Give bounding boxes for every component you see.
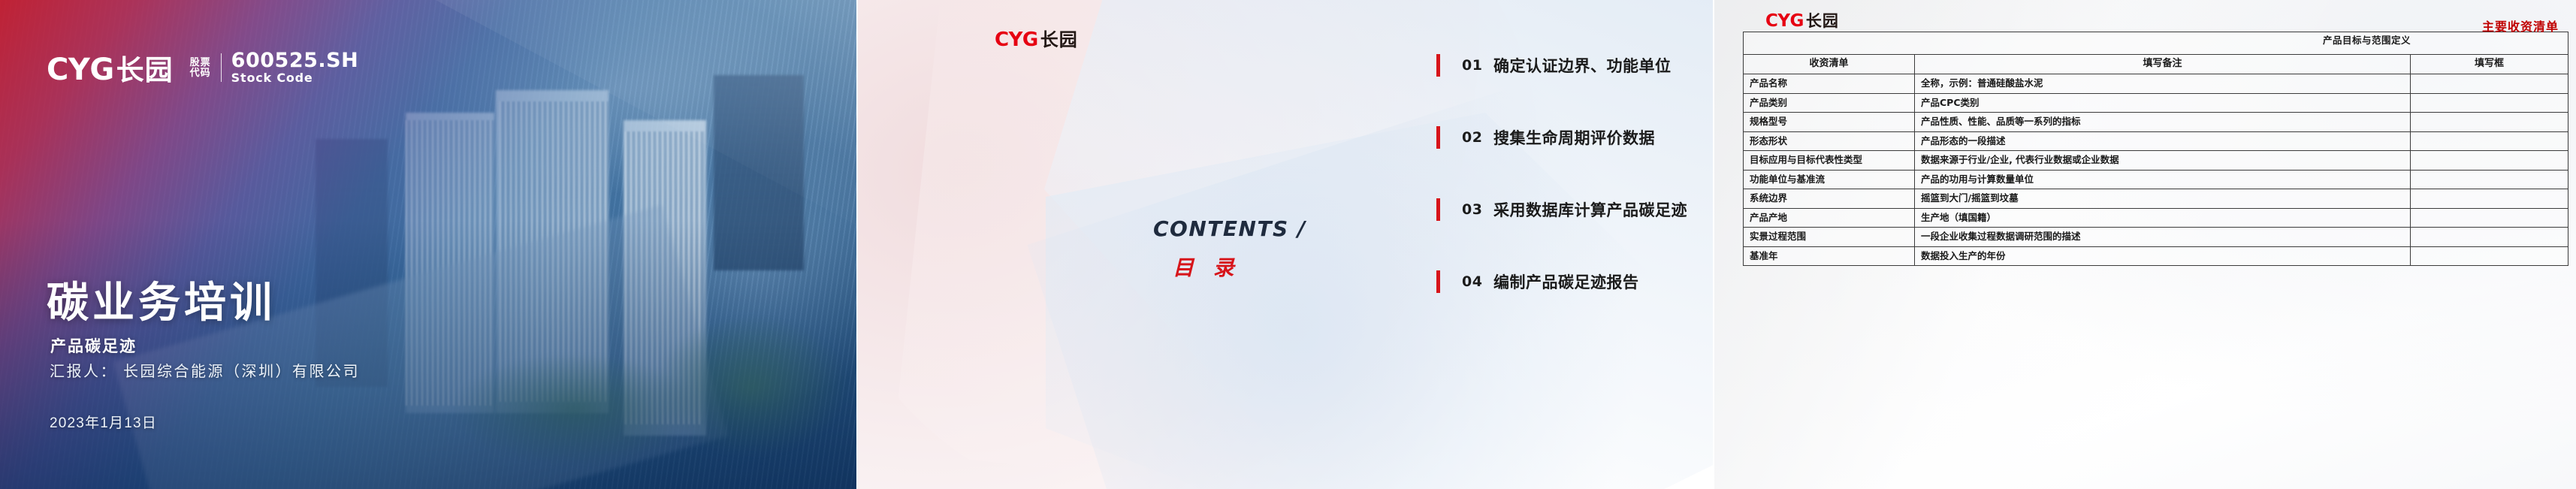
slide3-page-title: 主要收资清单 [2482,17,2559,35]
toc-item-03[interactable]: 03 采用数据库计算产品碳足迹 [1436,191,1687,228]
row-item-input-box[interactable] [2411,170,2568,189]
table-row: 基准年 数据投入生产的年份 [1744,246,2568,266]
row-item-note: 数据来源于行业/企业, 代表行业数据或企业数据 [1915,151,2411,171]
toc-item-marker-bar [1436,198,1440,221]
data-collection-table: 产品目标与范围定义 收资清单 填写备注 填写框 产品名称 全称，示例：普通硅酸盐… [1743,32,2568,266]
toc-item-number: 01 [1462,57,1493,74]
row-item-note: 数据投入生产的年份 [1915,246,2411,266]
toc-item-number: 03 [1462,201,1493,218]
table-caption-text: 产品目标与范围定义 [2172,35,2562,46]
row-item-note: 一段企业收集过程数据调研范围的描述 [1915,228,2411,247]
cover-logo-row: CYG 长园 股票 代码 600525.SH Stock Code [47,47,358,88]
logo-latin-text: CYG [47,53,114,87]
table-row: 产品类别 产品CPC类别 [1744,93,2568,113]
stock-label-line1: 股票 [190,57,211,68]
row-item-input-box[interactable] [2411,246,2568,266]
row-item-input-box[interactable] [2411,74,2568,94]
row-item-input-box[interactable] [2411,208,2568,228]
row-item-note: 产品性质、性能、品质等一系列的指标 [1915,113,2411,132]
row-item-name: 功能单位与基准流 [1744,170,1915,189]
table-row: 功能单位与基准流 产品的功用与计算数量单位 [1744,170,2568,189]
toc-item-label: 搜集生命周期评价数据 [1493,126,1655,149]
table-row: 规格型号 产品性质、性能、品质等一系列的指标 [1744,113,2568,132]
row-item-name: 产品产地 [1744,208,1915,228]
row-item-name: 产品名称 [1744,74,1915,94]
logo-latin-text: CYG [1765,11,1804,31]
stock-label-line2: 代码 [190,68,211,78]
data-collection-table-wrapper: 产品目标与范围定义 收资清单 填写备注 填写框 产品名称 全称，示例：普通硅酸盐… [1743,32,2567,266]
toc-heading-english: CONTENTS / [1153,216,1306,241]
toc-item-marker-bar [1436,54,1440,77]
row-item-name: 基准年 [1744,246,1915,266]
stock-code-value: 600525.SH [231,50,359,71]
row-item-input-box[interactable] [2411,131,2568,151]
table-body: 产品名称 全称，示例：普通硅酸盐水泥 产品类别 产品CPC类别 规格型号 产品性… [1744,74,2568,266]
toc-heading-chinese: 目 录 [1173,252,1306,282]
toc-item-01[interactable]: 01 确定认证边界、功能单位 [1436,47,1687,84]
logo-han-text: 长园 [116,47,174,88]
cover-date: 2023年1月13日 [50,412,157,432]
logo-han-text: 长园 [1806,9,1839,32]
toc-logo-row: CYG 长园 [995,25,1078,51]
slide3-logo-row: CYG 长园 [1765,9,1839,32]
slide-data-collection-list: CYG 长园 主要收资清单 产品目标与范围定义 收资清单 填写备注 [1713,0,2576,489]
row-item-note: 产品CPC类别 [1915,93,2411,113]
toc-item-marker-bar [1436,126,1440,149]
row-item-input-box[interactable] [2411,113,2568,132]
table-row: 产品产地 生产地（填国籍） [1744,208,2568,228]
logo-latin-text: CYG [995,29,1038,51]
toc-item-label: 编制产品碳足迹报告 [1493,270,1639,293]
row-item-name: 规格型号 [1744,113,1915,132]
row-item-note: 摇篮到大门/摇篮到坟墓 [1915,189,2411,209]
table-header-collection-list: 收资清单 [1744,55,1915,74]
table-caption-cell: 产品目标与范围定义 [1744,32,2568,55]
cover-presenter-line: 汇报人： 长园综合能源（深圳）有限公司 [50,359,360,381]
table-row: 系统边界 摇篮到大门/摇篮到坟墓 [1744,189,2568,209]
toc-item-number: 04 [1462,273,1493,290]
stock-code-sublabel: Stock Code [231,71,359,85]
row-item-name: 系统边界 [1744,189,1915,209]
table-header-fill-note: 填写备注 [1915,55,2411,74]
row-item-name: 目标应用与目标代表性类型 [1744,151,1915,171]
row-item-note: 产品形态的一段描述 [1915,131,2411,151]
slide-table-of-contents: CYG 长园 CONTENTS / 目 录 01 确定认证边界、功能单位 02 … [856,0,1713,489]
toc-item-label: 确定认证边界、功能单位 [1493,54,1672,77]
cyg-logo: CYG 长园 [47,47,174,88]
table-caption-row: 产品目标与范围定义 [1744,32,2568,55]
toc-item-04[interactable]: 04 编制产品碳足迹报告 [1436,263,1687,300]
toc-item-marker-bar [1436,270,1440,293]
row-item-input-box[interactable] [2411,93,2568,113]
toc-item-number: 02 [1462,129,1493,146]
toc-item-02[interactable]: 02 搜集生命周期评价数据 [1436,119,1687,156]
row-item-name: 形态形状 [1744,131,1915,151]
stock-divider [221,53,222,82]
slide-deck-strip: CYG 长园 股票 代码 600525.SH Stock Code 碳业务培训 [0,0,2576,489]
row-item-input-box[interactable] [2411,151,2568,171]
table-header-row: 收资清单 填写备注 填写框 [1744,55,2568,74]
slide-title-cover: CYG 长园 股票 代码 600525.SH Stock Code 碳业务培训 [0,0,856,489]
stock-code-group: 股票 代码 600525.SH Stock Code [190,50,359,85]
row-item-note: 生产地（填国籍） [1915,208,2411,228]
table-row: 形态形状 产品形态的一段描述 [1744,131,2568,151]
row-item-name: 产品类别 [1744,93,1915,113]
row-item-input-box[interactable] [2411,189,2568,209]
row-item-note: 产品的功用与计算数量单位 [1915,170,2411,189]
table-row: 产品名称 全称，示例：普通硅酸盐水泥 [1744,74,2568,94]
cover-subtitle: 产品碳足迹 [50,334,137,357]
table-row: 目标应用与目标代表性类型 数据来源于行业/企业, 代表行业数据或企业数据 [1744,151,2568,171]
row-item-name: 实景过程范围 [1744,228,1915,247]
row-item-note: 全称，示例：普通硅酸盐水泥 [1915,74,2411,94]
toc-item-label: 采用数据库计算产品碳足迹 [1493,198,1687,221]
logo-han-text: 长园 [1040,25,1078,51]
toc-item-list: 01 确定认证边界、功能单位 02 搜集生命周期评价数据 03 采用数据库计算产… [1436,47,1687,335]
table-header-fill-box: 填写框 [2411,55,2568,74]
stock-code-label-cn: 股票 代码 [190,57,211,78]
table-row: 实景过程范围 一段企业收集过程数据调研范围的描述 [1744,228,2568,247]
row-item-input-box[interactable] [2411,228,2568,247]
toc-heading-block: CONTENTS / 目 录 [1153,216,1306,282]
cover-main-title: 碳业务培训 [47,280,276,327]
